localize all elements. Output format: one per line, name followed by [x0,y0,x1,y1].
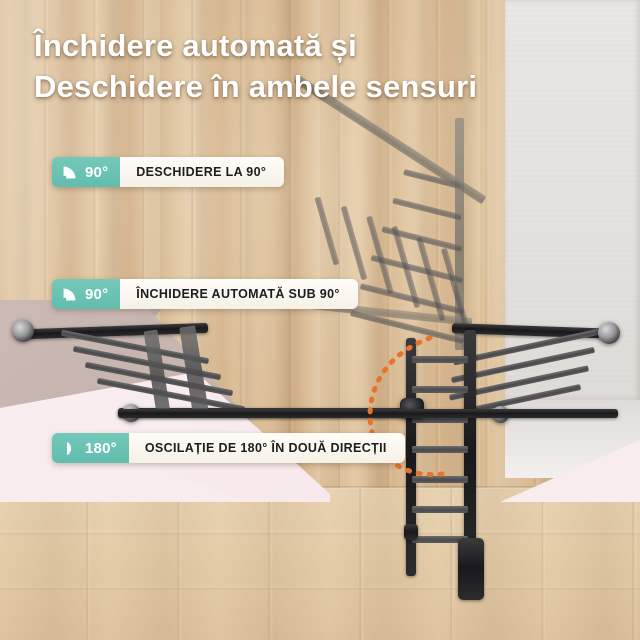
feature-badge-value: 90° [85,164,108,181]
gate-foot-pad [458,538,484,600]
product-feature-graphic: Închidere automată și Deschidere în ambe… [0,0,640,640]
headline: Închidere automată și Deschidere în ambe… [34,26,554,108]
feature-badge-value: 180° [85,440,117,457]
headline-line-2: Deschidere în ambele sensuri [34,67,554,108]
feature-badge-autoclose-90: 90° ÎNCHIDERE AUTOMATĂ SUB 90° [52,279,358,309]
feature-badge-chip: 90° [52,279,120,309]
gate-wall-mount-right [598,322,620,344]
headline-line-1: Închidere automată și [34,26,554,67]
angle-90-icon [61,286,78,303]
feature-badge-label: OSCILAȚIE DE 180° ÎN DOUĂ DIRECȚII [129,433,405,463]
feature-badge-value: 90° [85,286,108,303]
semicircle-180-icon [61,440,78,457]
angle-90-icon [61,164,78,181]
feature-badge-label: ÎNCHIDERE AUTOMATĂ SUB 90° [120,279,357,309]
gate-wall-mount-left [12,320,34,342]
wood-floor-plank-seams [0,488,640,640]
feature-badge-chip: 180° [52,433,129,463]
feature-badge-label: DESCHIDERE LA 90° [120,157,284,187]
feature-badge-swing-180: 180° OSCILAȚIE DE 180° ÎN DOUĂ DIRECȚII [52,433,405,463]
feature-badge-chip: 90° [52,157,120,187]
feature-badge-open-90: 90° DESCHIDERE LA 90° [52,157,284,187]
